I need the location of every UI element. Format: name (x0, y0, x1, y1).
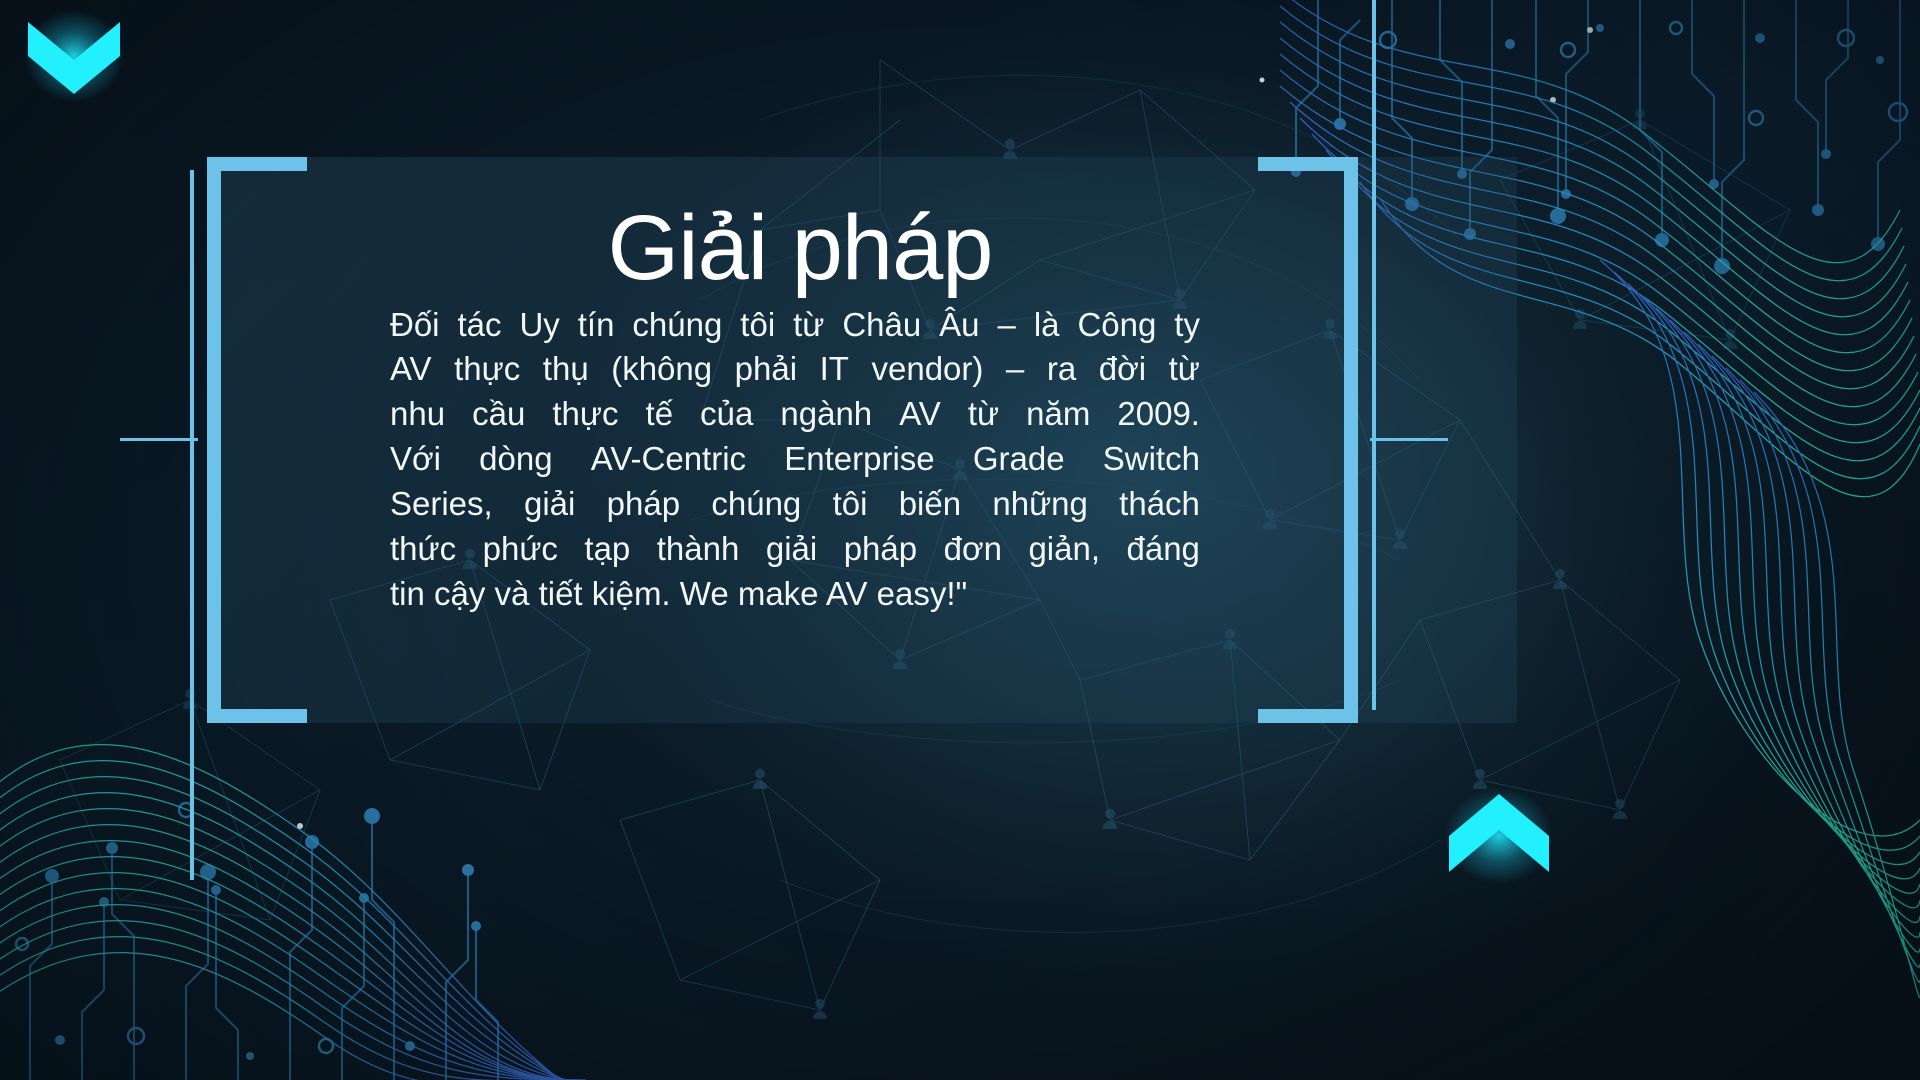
slide-content: Giải pháp ĐốitácUytínchúngtôitừChâuÂu–là… (390, 200, 1210, 617)
frame-bracket-right (1344, 157, 1358, 723)
body-line: AVthựcthụ(khôngphảiITvendor)–rađờitừ (390, 347, 1200, 392)
frame-bracket-right-bottom (1258, 709, 1358, 723)
body-line: nhucầuthựctếcủangànhAVtừnăm2009. (390, 392, 1200, 437)
body-line: tin cậy và tiết kiệm. We make AV easy!" (390, 572, 1200, 617)
frame-bracket-right-top (1258, 157, 1358, 171)
frame-accent-line-left (190, 170, 194, 880)
slide-body: ĐốitácUytínchúngtôitừChâuÂu–làCôngty AVt… (390, 303, 1200, 617)
frame-accent-tick-left (120, 438, 198, 441)
chevron-up-logo-icon (1443, 786, 1555, 886)
slide-title: Giải pháp (390, 200, 1210, 297)
presentation-slide: Giải pháp ĐốitácUytínchúngtôitừChâuÂu–là… (0, 0, 1920, 1080)
frame-accent-line-right (1372, 0, 1376, 710)
chevron-down-logo-icon (22, 8, 126, 104)
body-line: thứcphứctạpthànhgiảiphápđơngiản,đáng (390, 527, 1200, 572)
frame-bracket-left (207, 157, 221, 723)
frame-bracket-left-bottom (207, 709, 307, 723)
body-line: Series,giảiphápchúngtôibiếnnhữngthách (390, 482, 1200, 527)
frame-accent-tick-right (1370, 438, 1448, 441)
body-line: ĐốitácUytínchúngtôitừChâuÂu–làCôngty (390, 303, 1200, 348)
frame-bracket-left-top (207, 157, 307, 171)
body-line: VớidòngAV-CentricEnterpriseGradeSwitch (390, 437, 1200, 482)
